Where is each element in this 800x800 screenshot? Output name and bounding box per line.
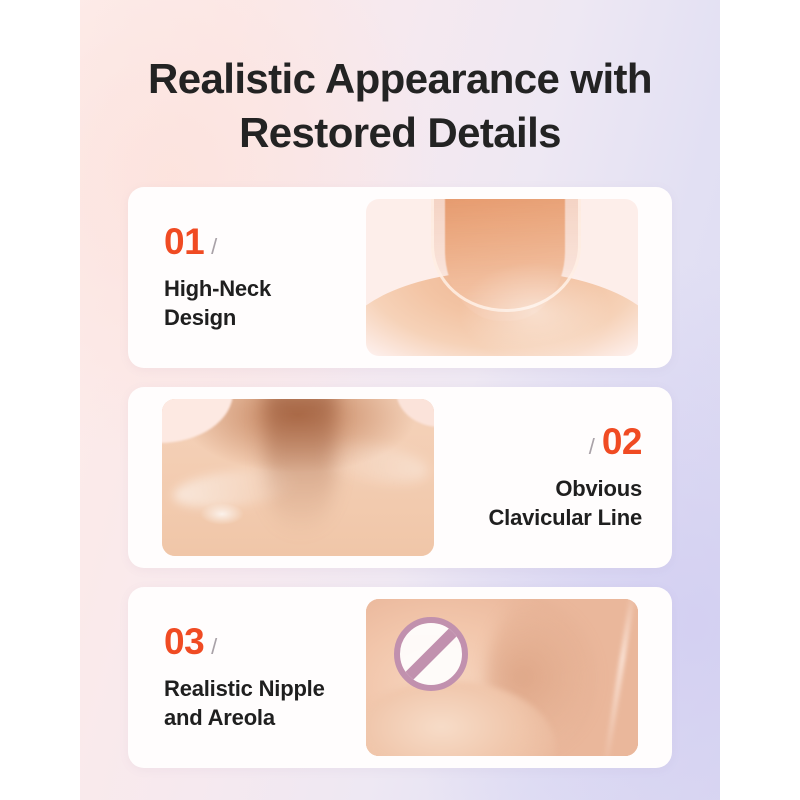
- clavicular-line-photo: [162, 399, 434, 556]
- infographic-canvas: Realistic Appearance with Restored Detai…: [0, 0, 800, 800]
- photo-sheen: [366, 199, 638, 356]
- feature-label-01: High-Neck Design: [164, 274, 356, 332]
- feature-card-list: 01 / High-Neck Design / 02: [128, 187, 672, 787]
- feature-label-02: Obvious Clavicular Line: [444, 474, 642, 532]
- censor-diagonal-bar: [399, 622, 463, 686]
- feature-separator-02: /: [589, 436, 595, 458]
- feature-label-03: Realistic Nipple and Areola: [164, 674, 356, 732]
- feature-card-02[interactable]: / 02 Obvious Clavicular Line: [128, 387, 672, 568]
- nipple-areola-photo: [366, 599, 638, 756]
- feature-separator-01: /: [211, 236, 217, 258]
- feature-label-03-line-1: Realistic Nipple: [164, 676, 325, 701]
- feature-number-03: 03: [164, 623, 204, 660]
- feature-card-01-text: 01 / High-Neck Design: [128, 223, 366, 332]
- feature-label-01-line-1: High-Neck: [164, 276, 271, 301]
- feature-card-03[interactable]: 03 / Realistic Nipple and Areola: [128, 587, 672, 768]
- censored-no-entry-icon: [394, 617, 468, 691]
- page-title-line-2: Restored Details: [80, 106, 720, 160]
- feature-card-03-text: 03 / Realistic Nipple and Areola: [128, 623, 366, 732]
- page-title-line-1: Realistic Appearance with: [80, 52, 720, 106]
- high-neck-photo: [366, 199, 638, 356]
- feature-card-01[interactable]: 01 / High-Neck Design: [128, 187, 672, 368]
- feature-number-01: 01: [164, 223, 204, 260]
- page-title: Realistic Appearance with Restored Detai…: [80, 52, 720, 160]
- feature-label-02-line-1: Obvious: [555, 476, 642, 501]
- feature-label-03-line-2: and Areola: [164, 705, 275, 730]
- feature-card-01-number-row: 01 /: [164, 223, 356, 260]
- feature-card-03-number-row: 03 /: [164, 623, 356, 660]
- feature-label-01-line-2: Design: [164, 305, 236, 330]
- photo-highlight: [200, 503, 244, 525]
- feature-label-02-line-2: Clavicular Line: [488, 505, 642, 530]
- feature-number-02: 02: [602, 423, 642, 460]
- feature-card-02-text: / 02 Obvious Clavicular Line: [434, 423, 672, 532]
- feature-card-02-number-row: / 02: [444, 423, 642, 460]
- feature-separator-03: /: [211, 636, 217, 658]
